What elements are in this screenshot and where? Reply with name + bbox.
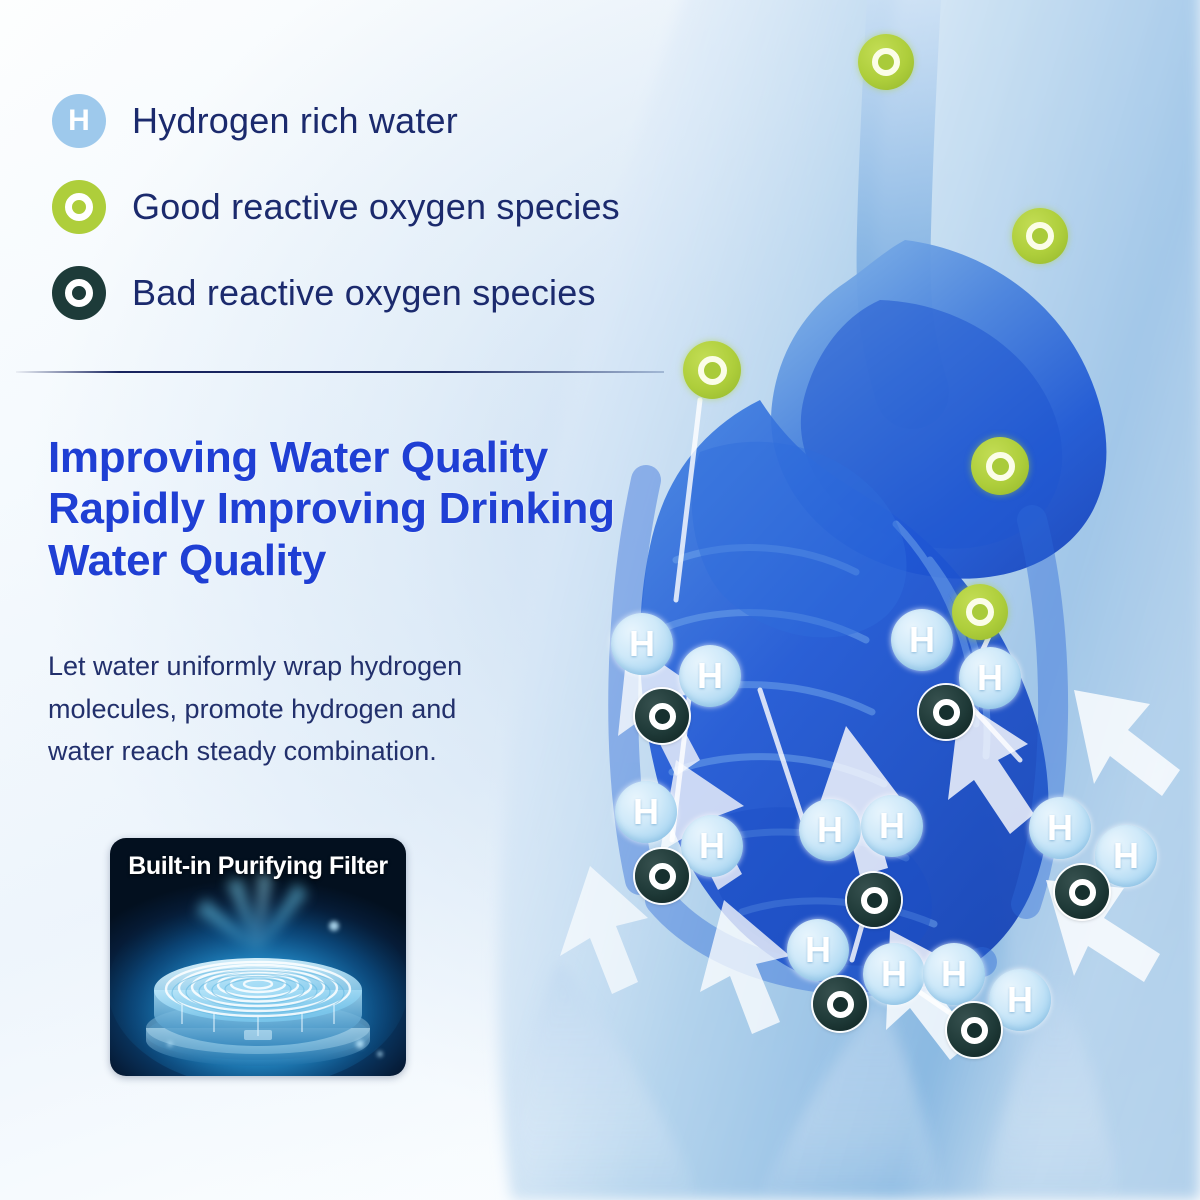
bad-oxygen-molecule-marker — [813, 977, 867, 1031]
hydrogen-molecule-marker: H — [863, 943, 925, 1005]
headline-line-1: Improving Water Quality — [48, 432, 668, 483]
good-oxygen-molecule-marker — [683, 341, 741, 399]
headline-line-3: Water Quality — [48, 535, 668, 586]
legend-item-good-reactive-oxygen: Good reactive oxygen species — [52, 164, 712, 250]
bad-oxygen-molecule-marker — [919, 685, 973, 739]
legend-label-hydrogen-rich-water: Hydrogen rich water — [132, 100, 458, 142]
headline-line-2: Rapidly Improving Drinking — [48, 483, 668, 534]
good-oxygen-molecule-marker — [1012, 208, 1068, 264]
good-oxygen-molecule-marker — [952, 584, 1008, 640]
built-in-purifying-filter-card: Built-in Purifying Filter — [110, 838, 406, 1076]
body-copy-line-2: molecules, promote hydrogen and — [48, 688, 518, 731]
filter-card-title: Built-in Purifying Filter — [110, 852, 406, 881]
oxygen-ring-glyph — [961, 1017, 988, 1044]
infographic-poster: H Hydrogen rich water Good reactive oxyg… — [0, 0, 1200, 1200]
legend-label-good-reactive-oxygen: Good reactive oxygen species — [132, 186, 620, 228]
hydrogen-molecule-marker: H — [787, 919, 849, 981]
hydrogen-badge-icon: H — [52, 94, 106, 148]
good-oxygen-molecule-marker — [858, 34, 914, 90]
oxygen-ring-glyph — [698, 356, 727, 385]
hydrogen-molecule-marker: H — [679, 645, 741, 707]
legend-item-bad-reactive-oxygen: Bad reactive oxygen species — [52, 250, 712, 336]
bad-oxygen-molecule-marker — [847, 873, 901, 927]
oxygen-ring-glyph — [933, 699, 960, 726]
oxygen-ring-glyph — [649, 703, 676, 730]
hydrogen-molecule-marker: H — [861, 795, 923, 857]
oxygen-ring-glyph — [827, 991, 854, 1018]
oxygen-ring-glyph — [986, 452, 1015, 481]
legend-item-hydrogen-rich-water: H Hydrogen rich water — [52, 78, 712, 164]
oxygen-ring-glyph — [872, 48, 900, 76]
legend: H Hydrogen rich water Good reactive oxyg… — [52, 78, 712, 336]
body-copy-line-3: water reach steady combination. — [48, 730, 518, 773]
bad-oxygen-molecule-marker — [635, 689, 689, 743]
oxygen-ring-glyph — [65, 193, 93, 221]
good-oxygen-badge-icon — [52, 180, 106, 234]
oxygen-ring-glyph — [861, 887, 888, 914]
page-title: Improving Water Quality Rapidly Improvin… — [48, 432, 668, 586]
bad-oxygen-molecule-marker — [635, 849, 689, 903]
hydrogen-molecule-marker: H — [615, 781, 677, 843]
hydrogen-molecule-marker: H — [681, 815, 743, 877]
oxygen-ring-glyph — [649, 863, 676, 890]
hydrogen-glyph: H — [68, 106, 90, 136]
oxygen-ring-glyph — [65, 279, 93, 307]
good-oxygen-molecule-marker — [971, 437, 1029, 495]
bad-oxygen-badge-icon — [52, 266, 106, 320]
body-copy-line-1: Let water uniformly wrap hydrogen — [48, 645, 518, 688]
section-divider — [16, 371, 664, 373]
hydrogen-molecule-marker: H — [891, 609, 953, 671]
body-copy: Let water uniformly wrap hydrogen molecu… — [48, 645, 518, 773]
hydrogen-molecule-marker: H — [799, 799, 861, 861]
hydrogen-molecule-marker: H — [1029, 797, 1091, 859]
oxygen-ring-glyph — [1069, 879, 1096, 906]
legend-label-bad-reactive-oxygen: Bad reactive oxygen species — [132, 272, 596, 314]
bad-oxygen-molecule-marker — [947, 1003, 1001, 1057]
oxygen-ring-glyph — [966, 598, 994, 626]
hydrogen-molecule-marker: H — [611, 613, 673, 675]
bad-oxygen-molecule-marker — [1055, 865, 1109, 919]
oxygen-ring-glyph — [1026, 222, 1054, 250]
hydrogen-molecule-marker: H — [923, 943, 985, 1005]
